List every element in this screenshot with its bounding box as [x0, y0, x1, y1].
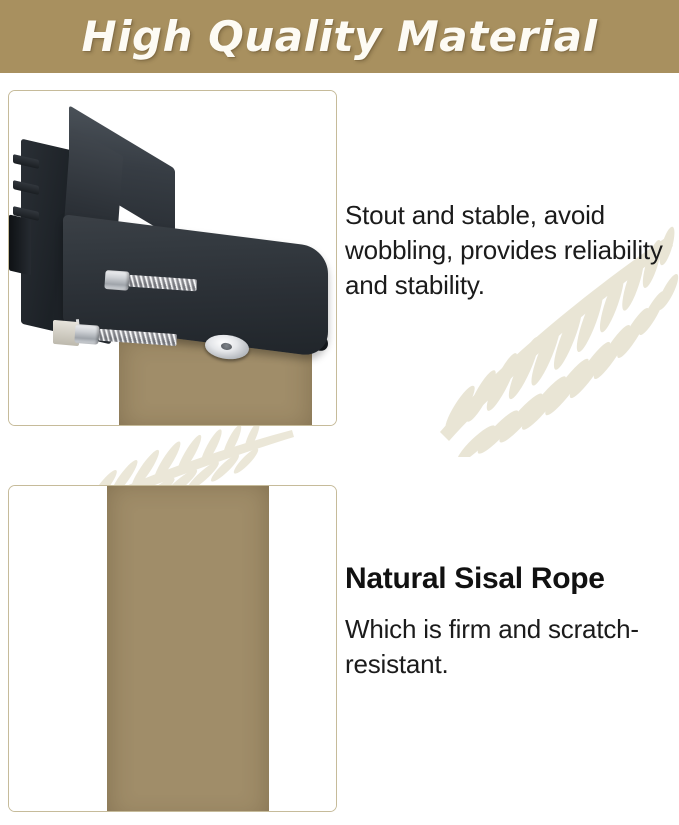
hex-nut [104, 270, 129, 291]
feature-body-text: Which is firm and scratch-resistant. [345, 612, 671, 682]
sisal-rope-post [107, 486, 269, 811]
bracket-notch [9, 214, 31, 275]
feature-body-text: Stout and stable, avoid wobbling, provid… [345, 198, 671, 303]
hex-bolt [105, 273, 106, 285]
feature-heading: Natural Sisal Rope [345, 562, 671, 596]
sisal-rope-post-closeup-photo [8, 485, 337, 812]
feature-text-stability: Stout and stable, avoid wobbling, provid… [345, 198, 671, 303]
black-metal-bracket-on-sisal-post-photo [8, 90, 337, 426]
hex-bolt [75, 327, 76, 339]
page-title: High Quality Material [82, 16, 598, 58]
hex-nut [74, 324, 99, 345]
header-banner: High Quality Material [0, 0, 679, 73]
feature-text-sisal-rope: Natural Sisal Rope Which is firm and scr… [345, 562, 671, 682]
